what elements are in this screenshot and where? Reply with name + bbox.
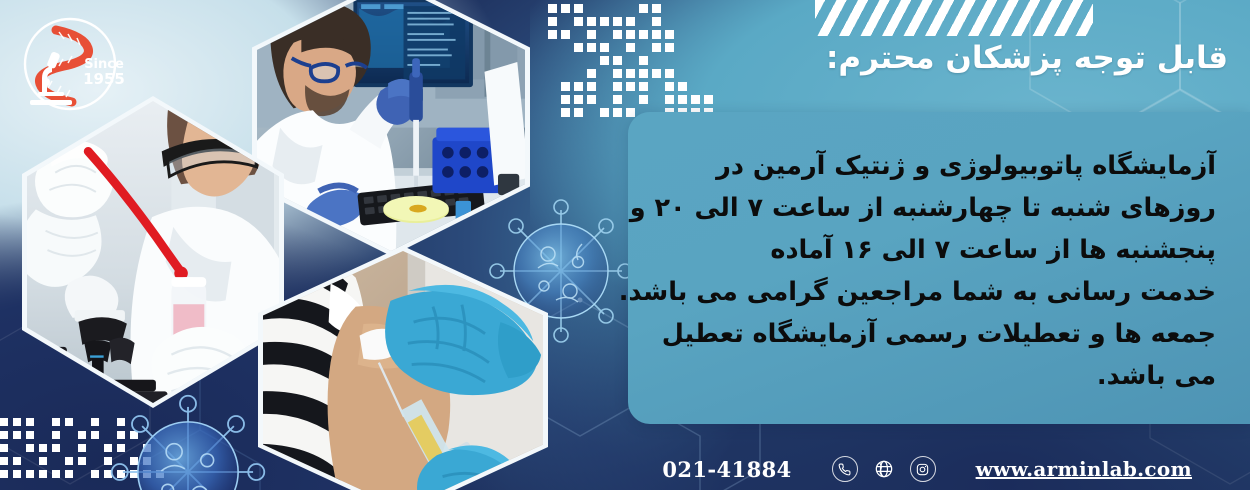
promotional-banner: Armin Pathobiology Lab Since xyxy=(0,0,1250,490)
contact-footer: www.arminlab.com xyxy=(0,438,1250,490)
website-link[interactable]: www.arminlab.com xyxy=(976,457,1192,481)
phone-number[interactable]: 021-41884 xyxy=(662,457,791,482)
social-icon-group xyxy=(832,456,936,482)
page-title: قابل توجه پزشکان محترم: xyxy=(826,40,1228,76)
svg-text:Armin Pathobiology Lab: Armin Pathobiology Lab xyxy=(6,8,12,11)
announcement-line: جمعه ها و تعطیلات رسمی آزمایشگاه تعطیل xyxy=(654,313,1216,355)
phone-icon[interactable] xyxy=(832,456,858,482)
announcement-line: می باشد. xyxy=(654,355,1216,397)
announcement-line: پنجشنبه ها از ساعت ۷ الی ۱۶ آماده xyxy=(654,229,1216,271)
armin-pathobiology-lab-logo: Armin Pathobiology Lab Since xyxy=(6,8,138,116)
announcement-panel: آزمایشگاه پاتوبیولوژی و ژنتیک آرمین در ر… xyxy=(628,112,1250,424)
announcement-line: روزهای شنبه تا چهارشنبه از ساعت ۷ الی ۲۰… xyxy=(654,187,1216,229)
announcement-line: آزمایشگاه پاتوبیولوژی و ژنتیک آرمین در xyxy=(654,145,1216,187)
announcement-line: خدمت رسانی به شما مراجعین گرامی می باشد. xyxy=(654,271,1216,313)
announcement-text: آزمایشگاه پاتوبیولوژی و ژنتیک آرمین در ر… xyxy=(628,112,1250,424)
svg-text:1955: 1955 xyxy=(83,70,125,88)
instagram-icon[interactable] xyxy=(910,456,936,482)
globe-icon[interactable] xyxy=(871,456,897,482)
